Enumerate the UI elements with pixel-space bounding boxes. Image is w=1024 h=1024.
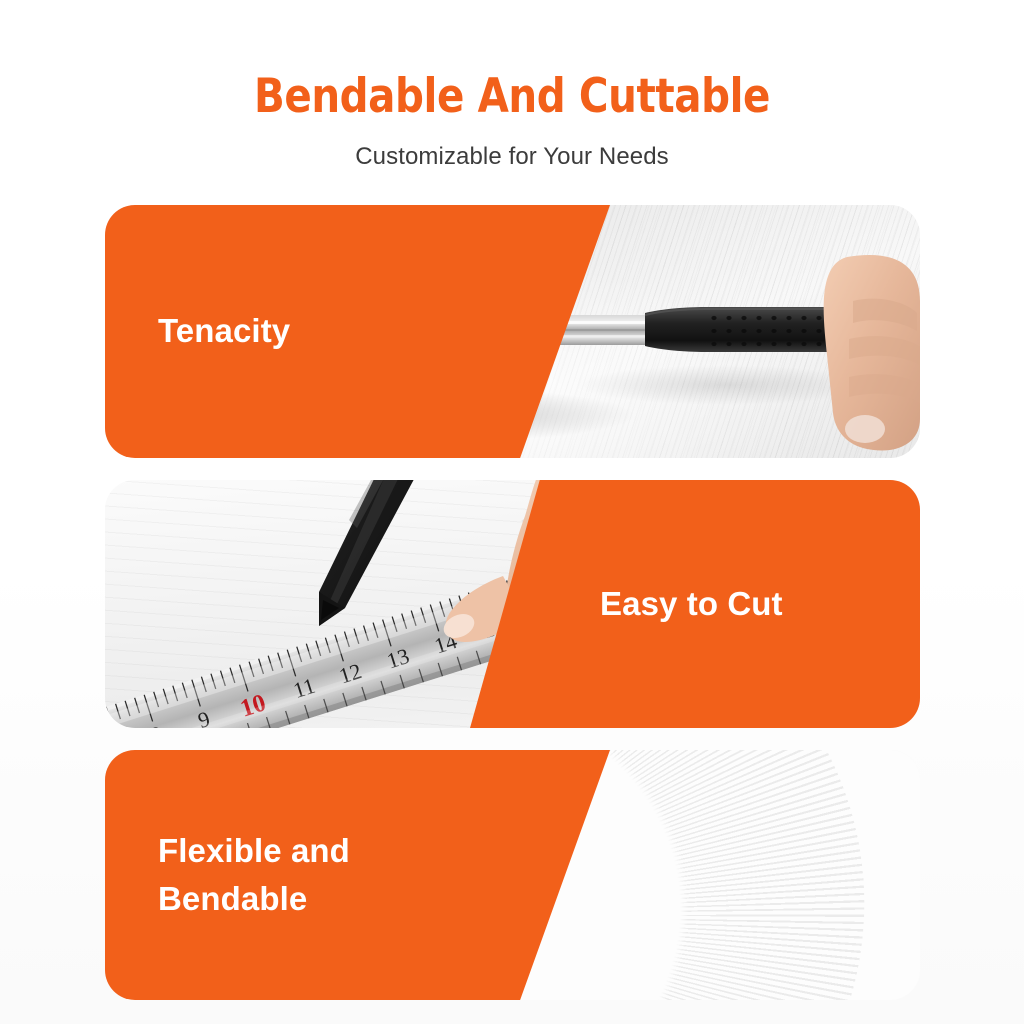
hand-photo xyxy=(824,255,920,451)
utility-knife-photo xyxy=(319,480,435,626)
card-label: Tenacity xyxy=(105,307,290,355)
feature-card: 6 7 8 9 10 11 12 13 14 15 xyxy=(105,480,920,728)
feature-card: Tenacity A hand holding a steel claw ham… xyxy=(105,205,920,458)
card-label-panel: Easy to Cut xyxy=(470,480,920,728)
page-title: Bendable And Cuttable xyxy=(72,72,953,121)
infographic-page: Bendable And Cuttable Customizable for Y… xyxy=(0,0,1024,1024)
card-label: Flexible and Bendable xyxy=(105,827,350,923)
header: Bendable And Cuttable Customizable for Y… xyxy=(0,72,1024,171)
card-label: Easy to Cut xyxy=(470,580,783,628)
feature-card: Flexible and Bendable Curved white flute… xyxy=(105,750,920,1000)
page-subtitle: Customizable for Your Needs xyxy=(0,143,1024,171)
